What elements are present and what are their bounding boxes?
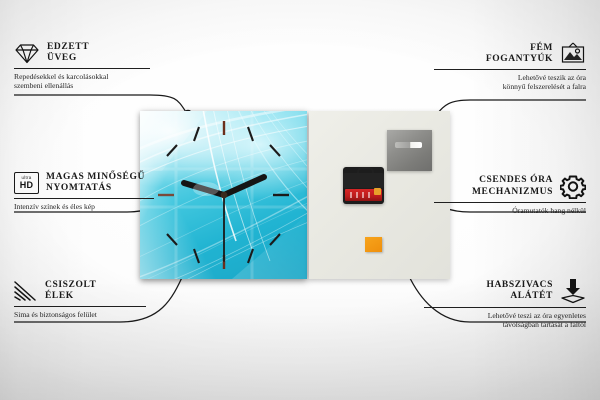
feature-divider xyxy=(14,198,154,199)
feature-title-line2: MECHANIZMUS xyxy=(472,187,553,198)
feature-description: Lehetővé teszi az óra egyenletes távolsá… xyxy=(424,311,586,330)
clock-hands-and-markers xyxy=(140,111,307,279)
feature-title-line1: FÉM xyxy=(486,43,553,54)
hanger-slot xyxy=(395,142,422,148)
feature-title-line1: CSENDES ÓRA xyxy=(472,175,553,186)
feature-title-line2: ÜVEG xyxy=(47,53,89,64)
foam-pad-arrow-icon xyxy=(560,278,586,304)
quartz-mechanism xyxy=(343,167,384,204)
wall-mount-frame-icon xyxy=(560,42,586,66)
clock-face-front xyxy=(140,111,307,279)
feature-description: Repedésekkel és karcolásokkal szembeni e… xyxy=(14,72,150,91)
ultra-hd-icon-main-text: HD xyxy=(20,181,33,191)
feature-description: Óramutatók hang nélkül xyxy=(434,206,586,215)
feature-title-line1: MAGAS MINŐSÉGŰ xyxy=(46,172,145,183)
feature-metal-handles: FÉM FOGANTYÚK Lehetővé teszik az óra kön… xyxy=(434,42,586,92)
feature-title-line1: CSISZOLT xyxy=(45,280,96,291)
feature-divider xyxy=(14,68,150,69)
feature-divider xyxy=(434,202,586,203)
feature-foam-pad: HABSZIVACS ALÁTÉT Lehetővé teszi az óra … xyxy=(424,278,586,330)
product-photo xyxy=(140,111,450,279)
feature-description: Intenzív színek és éles kép xyxy=(14,202,154,211)
feature-title-line1: HABSZIVACS xyxy=(486,280,553,291)
feature-silent-mechanism: CSENDES ÓRA MECHANIZMUS Óramutatók hang … xyxy=(434,174,586,215)
ultra-hd-icon: ultra HD xyxy=(14,172,39,194)
clock-back-panel xyxy=(309,111,450,279)
feature-description: Sima és biztonságos felület xyxy=(14,310,146,319)
feature-divider xyxy=(434,69,586,70)
feature-title-line2: ALÁTÉT xyxy=(486,291,553,302)
leader-line-tempered-glass xyxy=(14,95,186,112)
battery-terminal xyxy=(374,188,381,195)
feature-divider xyxy=(14,306,146,307)
feature-divider xyxy=(424,307,586,308)
feature-polished-edges: CSISZOLT ÉLEK Sima és biztonságos felüle… xyxy=(14,280,146,319)
feature-title-line2: FOGANTYÚK xyxy=(486,54,553,65)
feature-high-quality-print: ultra HD MAGAS MINŐSÉGŰ NYOMTATÁS Intenz… xyxy=(14,172,154,211)
gear-icon xyxy=(560,174,586,199)
feature-description: Lehetővé teszik az óra könnyű felszerelé… xyxy=(434,73,586,92)
mechanism-housing xyxy=(343,173,384,188)
metal-hanger-plate xyxy=(387,130,432,171)
polished-edge-icon xyxy=(14,280,38,302)
feature-tempered-glass: EDZETT ÜVEG Repedésekkel és karcolásokka… xyxy=(14,42,150,91)
infographic-stage: EDZETT ÜVEG Repedésekkel és karcolásokka… xyxy=(0,0,600,400)
foam-spacer-pad xyxy=(365,237,382,252)
leader-line-metal-handles xyxy=(436,100,586,115)
feature-title-line2: NYOMTATÁS xyxy=(46,183,145,194)
diamond-icon xyxy=(14,43,40,64)
feature-title-line1: EDZETT xyxy=(47,42,89,53)
feature-title-line2: ÉLEK xyxy=(45,291,96,302)
